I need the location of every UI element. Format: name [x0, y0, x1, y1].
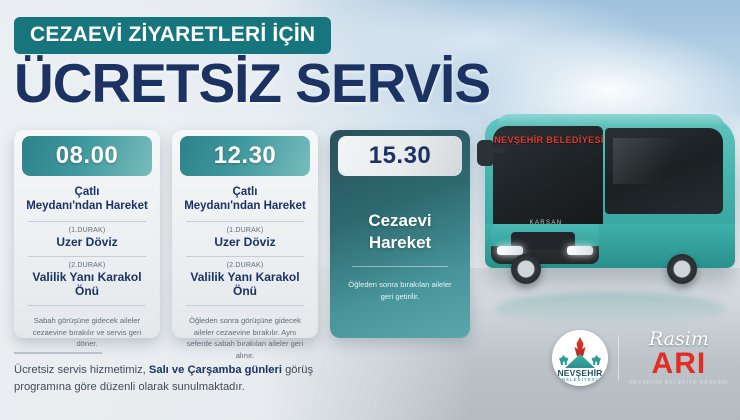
destination-line2: Meydanı'ndan Hareket: [180, 199, 310, 213]
page-title: ÜCRETSİZ SERVİS: [14, 56, 490, 111]
bus-photo: NEVŞEHİR BELEDİYESİ KARSAN: [455, 96, 740, 326]
time-badge-1: 08.00: [22, 136, 152, 176]
stop-tag: (1.DURAK): [22, 227, 152, 234]
stop-tag: (1.DURAK): [180, 227, 310, 234]
mayor-signature: Rasim ARI NEVŞEHİR BELEDİYE BAŞKANI: [629, 330, 729, 386]
destination-2: Çatlı Meydanı'ndan Hareket: [180, 185, 310, 214]
horse-icon-right: [591, 354, 601, 365]
stop-tag: (2.DURAK): [180, 262, 310, 269]
card-note-1: Sabah görüşüne gidecek aileler cezaevine…: [22, 315, 152, 350]
destination-line2: Meydanı'ndan Hareket: [22, 199, 152, 213]
stop-tag: (2.DURAK): [22, 262, 152, 269]
bus-headlight-left: [497, 246, 523, 255]
nevsehir-municipality-logo-icon: NEVŞEHİR BELEDİYESİ: [552, 330, 608, 386]
footer-divider: [14, 352, 102, 354]
mayor-last-name: ARI: [652, 350, 707, 379]
divider: [186, 221, 304, 222]
stop-name: Uzer Döviz: [180, 235, 310, 249]
destination-line1: Cezaevi: [338, 210, 462, 232]
schedule-card-2[interactable]: 12.30 Çatlı Meydanı'ndan Hareket (1.DURA…: [172, 130, 318, 338]
schedule-card-3[interactable]: 15.30 Cezaevi Hareket Öğleden sonra bıra…: [330, 130, 470, 338]
time-badge-2: 12.30: [180, 136, 310, 176]
stop-name: Valilik Yanı Karakol Önü: [180, 270, 310, 298]
schedule-cards: 08.00 Çatlı Meydanı'ndan Hareket (1.DURA…: [14, 130, 470, 338]
destination-3: Cezaevi Hareket: [338, 210, 462, 254]
schedule-card-1[interactable]: 08.00 Çatlı Meydanı'ndan Hareket (1.DURA…: [14, 130, 160, 338]
destination-1: Çatlı Meydanı'ndan Hareket: [22, 185, 152, 214]
branding-block: NEVŞEHİR BELEDİYESİ Rasim ARI NEVŞEHİR B…: [552, 330, 729, 386]
footer-highlight: Salı ve Çarşamba günleri: [149, 364, 282, 376]
bus-side-windows: [605, 128, 723, 214]
poster-canvas: NEVŞEHİR BELEDİYESİ KARSAN CEZAEVİ ZİYAR…: [0, 0, 740, 420]
bus-brand-label: KARSAN: [517, 220, 575, 226]
stop-name: Valilik Yanı Karakol Önü: [22, 270, 152, 298]
divider: [186, 256, 304, 257]
footer-part1: Ücretsiz servis hizmetimiz,: [14, 364, 149, 376]
divider: [28, 221, 146, 222]
vertical-divider: [618, 335, 619, 381]
horse-icon-left: [559, 354, 569, 365]
divider: [28, 305, 146, 306]
stop-name: Uzer Döviz: [22, 235, 152, 249]
bus-mirror-arm: [489, 148, 505, 153]
seal-sub-label: BELEDİYESİ: [552, 377, 608, 382]
footer-text: Ücretsiz servis hizmetimiz, Salı ve Çarş…: [14, 362, 344, 396]
bus-headlight-right: [567, 246, 593, 255]
divider: [186, 305, 304, 306]
bus-rear-wheel: [667, 254, 697, 284]
destination-line1: Çatlı: [180, 185, 310, 199]
card-note-3: Öğleden sonra bırakılan aileler geri get…: [338, 279, 462, 303]
destination-line2: Hareket: [338, 232, 462, 254]
footer-note: Ücretsiz servis hizmetimiz, Salı ve Çarş…: [14, 352, 344, 396]
bus-front-wheel: [511, 254, 541, 284]
kicker-badge: CEZAEVİ ZİYARETLERİ İÇİN: [14, 17, 331, 54]
bus-floor-reflection: [495, 292, 725, 326]
bus-destination-banner: NEVŞEHİR BELEDİYESİ: [500, 132, 598, 148]
mayor-title: NEVŞEHİR BELEDİYE BAŞKANI: [629, 381, 729, 386]
time-badge-3: 15.30: [338, 136, 462, 176]
divider: [28, 256, 146, 257]
divider: [352, 266, 448, 267]
mountain-icon: [565, 354, 595, 368]
destination-line1: Çatlı: [22, 185, 152, 199]
bus-mirror: [477, 140, 493, 166]
